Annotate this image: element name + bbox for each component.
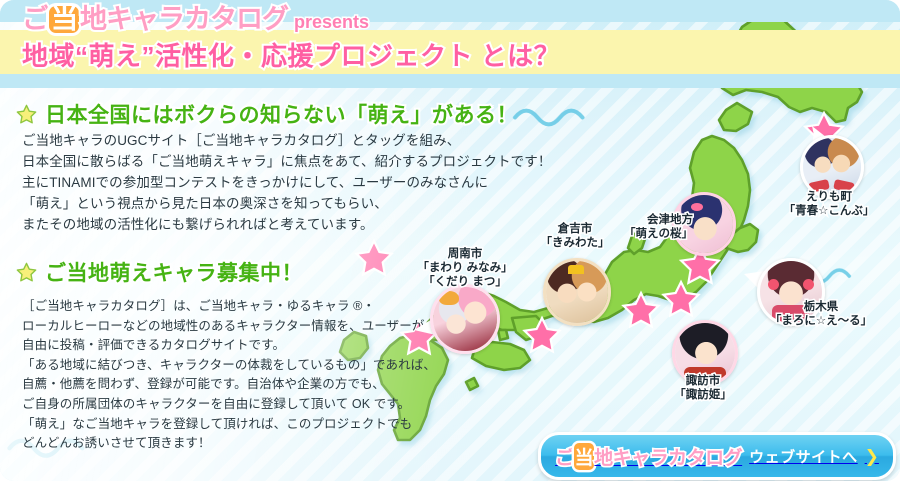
cta-label: ウェブサイトへ — [749, 446, 858, 467]
logo-post: 地キャラカタログ — [80, 4, 288, 34]
section-heading-2: ご当地萌えキャラ募集中！ — [16, 257, 303, 287]
character-label-suwa: 諏訪市 「諏訪姫」 — [651, 374, 755, 402]
crown-accessory — [568, 265, 584, 274]
logo-pre: ご — [22, 4, 48, 34]
section-heading-1: 日本全国にはボクらの知らない「萌え」がある！ — [16, 99, 518, 129]
character-label-shunan: 周南市 「まわり みなみ」 「くだり まつ」 — [400, 247, 530, 289]
flower-accessory — [803, 279, 814, 290]
header: ご当地キャラカタログ presents 地域“萌え”活性化・応援プロジェクト と… — [0, 0, 900, 88]
character-avatar-kurayoshi[interactable] — [543, 258, 611, 326]
cta-logo-post: 地キャラカタログ — [594, 448, 742, 469]
website-cta-button[interactable]: ご当地キャラカタログ ウェブサイトへ ❯ — [538, 432, 896, 480]
promo-panel: ご当地キャラカタログ presents 地域“萌え”活性化・応援プロジェクト と… — [0, 0, 900, 481]
cta-logo-pre: ご — [555, 448, 574, 469]
flower-accessory — [768, 279, 779, 290]
page-title: 地域“萌え”活性化・応援プロジェクト とは？ — [22, 36, 560, 73]
section-2-body: ［ご当地キャラカタログ］は、ご当地キャラ・ゆるキャラ ®・ ローカルヒーローなど… — [22, 297, 436, 454]
chevron-right-icon: ❯ — [865, 448, 879, 465]
presents-label: presents — [294, 13, 369, 31]
hat-accessory — [439, 291, 459, 305]
character-label-erimo: えりも町 「青春☆こんぶ」 — [778, 190, 880, 218]
cta-logo-mascot-kanji: 当 — [574, 443, 595, 470]
site-logo-text: ご当地キャラカタログ — [22, 6, 288, 33]
logo-mascot-kanji: 当 — [49, 6, 79, 33]
star-icon — [16, 262, 37, 283]
character-label-tochigi: 栃木県 「まろに☆え〜る」 — [746, 300, 896, 328]
site-logo: ご当地キャラカタログ presents — [22, 6, 369, 33]
cta-logo-text: ご当地キャラカタログ — [555, 443, 742, 470]
section-2-title: ご当地萌えキャラ募集中！ — [45, 257, 303, 287]
hair-ribbon — [691, 203, 703, 211]
section-1-body: ご当地キャラのUGCサイト［ご当地キャラカタログ］とタッグを組み、 日本全国に散… — [22, 130, 551, 235]
section-1-title: 日本全国にはボクらの知らない「萌え」がある！ — [45, 99, 518, 129]
star-icon — [16, 104, 37, 125]
character-avatar-shunan[interactable] — [430, 284, 500, 354]
character-label-kurayoshi: 倉吉市 「きみわた」 — [520, 222, 630, 250]
